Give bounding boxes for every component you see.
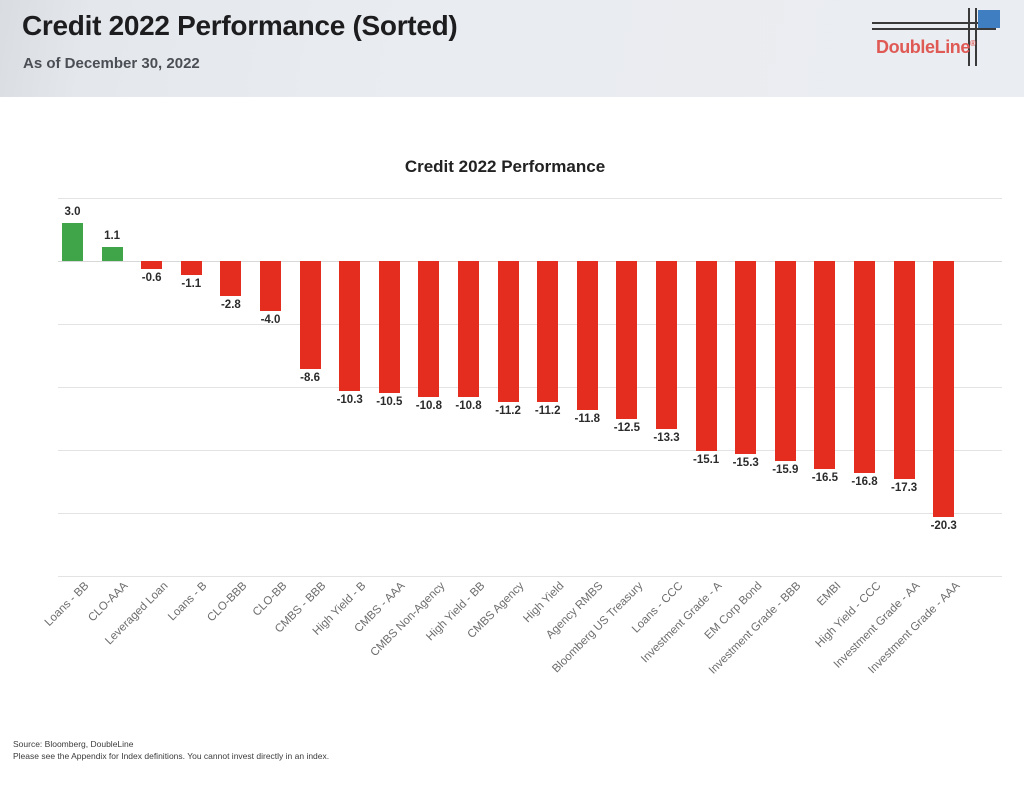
bar-value-label: -2.8: [209, 299, 253, 311]
x-axis-tick-label: CMBS Non-Agency: [368, 580, 447, 659]
bar[interactable]: [814, 261, 835, 469]
bar-value-label: -11.2: [526, 405, 570, 417]
bar[interactable]: [498, 261, 519, 402]
bar-value-label: -10.5: [367, 396, 411, 408]
bar[interactable]: [62, 223, 83, 261]
bar-value-label: -0.6: [130, 272, 174, 284]
bar[interactable]: [102, 247, 123, 261]
logo-hline-bottom: [872, 28, 996, 30]
bar-value-label: 3.0: [51, 206, 95, 218]
bar[interactable]: [894, 261, 915, 479]
bar-value-label: -8.6: [288, 372, 332, 384]
bar[interactable]: [141, 261, 162, 269]
x-axis-tick-label: CLO-BBB: [205, 580, 249, 624]
gridline: [58, 576, 1002, 577]
bar-value-label: -13.3: [645, 432, 689, 444]
page-subtitle: As of December 30, 2022: [23, 55, 200, 72]
logo-registered-mark: ®: [970, 39, 976, 48]
bar[interactable]: [260, 261, 281, 311]
page-header: Credit 2022 Performance (Sorted) As of D…: [0, 0, 1024, 97]
chart-plot-area: 3.01.1-0.6-1.1-2.8-4.0-8.6-10.3-10.5-10.…: [58, 198, 1002, 576]
bar-value-label: -4.0: [249, 314, 293, 326]
bar-value-label: -10.3: [328, 394, 372, 406]
bar[interactable]: [537, 261, 558, 402]
chart-title: Credit 2022 Performance: [0, 157, 1010, 177]
bar-value-label: -11.2: [486, 405, 530, 417]
bar[interactable]: [339, 261, 360, 391]
doubleline-logo: DoubleLine®: [868, 6, 1006, 72]
footnote-source: Source: Bloomberg, DoubleLine: [13, 738, 329, 750]
bar[interactable]: [181, 261, 202, 275]
bar[interactable]: [775, 261, 796, 461]
gridline: [58, 198, 1002, 199]
bar[interactable]: [696, 261, 717, 451]
bar[interactable]: [735, 261, 756, 454]
footnote-disclaimer: Please see the Appendix for Index defini…: [13, 750, 329, 762]
x-axis-tick-label: Loans - B: [166, 580, 209, 623]
logo-wordmark: DoubleLine®: [876, 37, 976, 58]
gridline: [58, 513, 1002, 514]
bar-value-label: -15.9: [763, 464, 807, 476]
bar[interactable]: [854, 261, 875, 473]
bar[interactable]: [933, 261, 954, 517]
bar-value-label: -10.8: [407, 400, 451, 412]
bar-value-label: -12.5: [605, 422, 649, 434]
logo-wordmark-text: DoubleLine: [876, 37, 970, 57]
bar-value-label: -11.8: [565, 413, 609, 425]
footnote: Source: Bloomberg, DoubleLine Please see…: [13, 738, 329, 763]
page-title: Credit 2022 Performance (Sorted): [22, 10, 457, 42]
bar[interactable]: [220, 261, 241, 296]
bar-value-label: -17.3: [882, 482, 926, 494]
bar[interactable]: [577, 261, 598, 410]
bar[interactable]: [616, 261, 637, 419]
bar[interactable]: [458, 261, 479, 397]
bar[interactable]: [656, 261, 677, 429]
bar-value-label: -1.1: [169, 278, 213, 290]
x-axis-tick-label: EMBI: [815, 580, 843, 608]
x-axis-tick-label: Loans - BB: [42, 580, 91, 629]
bar-value-label: -20.3: [922, 520, 966, 532]
bar-value-label: -16.5: [803, 472, 847, 484]
bar[interactable]: [379, 261, 400, 393]
bar-value-label: 1.1: [90, 230, 134, 242]
bar[interactable]: [418, 261, 439, 397]
bar-value-label: -15.1: [684, 454, 728, 466]
bar-value-label: -10.8: [447, 400, 491, 412]
x-axis-tick-label: CLO-BB: [250, 580, 289, 619]
bar-value-label: -16.8: [843, 476, 887, 488]
bar-value-label: -15.3: [724, 457, 768, 469]
x-axis-labels: Loans - BBCLO-AAALeveraged LoanLoans - B…: [58, 580, 1018, 730]
bar[interactable]: [300, 261, 321, 369]
logo-blue-square: [978, 10, 1000, 28]
